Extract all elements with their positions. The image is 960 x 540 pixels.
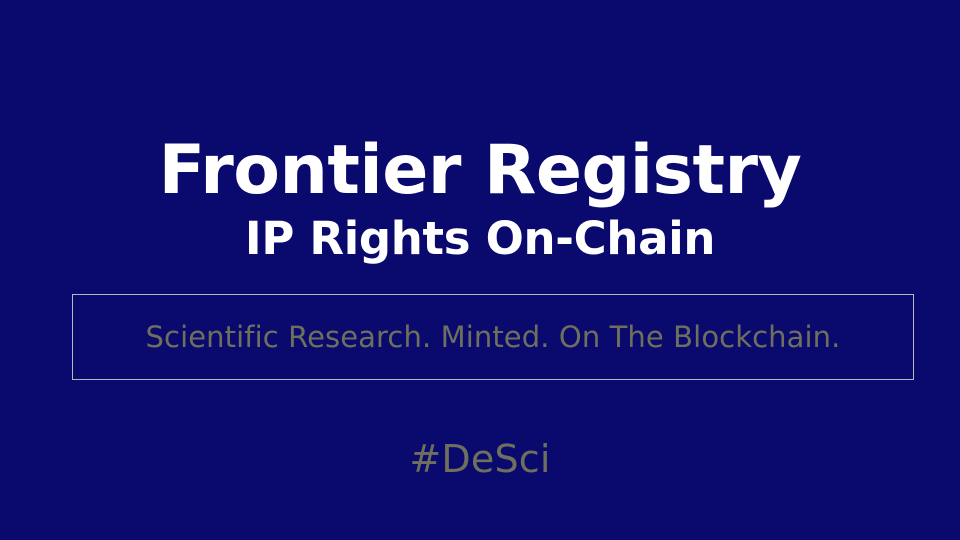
page-subtitle: IP Rights On-Chain xyxy=(0,215,960,263)
tagline-box: Scientific Research. Minted. On The Bloc… xyxy=(72,294,914,380)
page-title: Frontier Registry xyxy=(0,136,960,207)
title-slide: Frontier Registry IP Rights On-Chain Sci… xyxy=(0,0,960,540)
title-block: Frontier Registry IP Rights On-Chain xyxy=(0,136,960,262)
tagline-text: Scientific Research. Minted. On The Bloc… xyxy=(146,320,841,355)
hashtag-label: #DeSci xyxy=(409,437,550,481)
hashtag-row: #DeSci xyxy=(0,437,960,483)
